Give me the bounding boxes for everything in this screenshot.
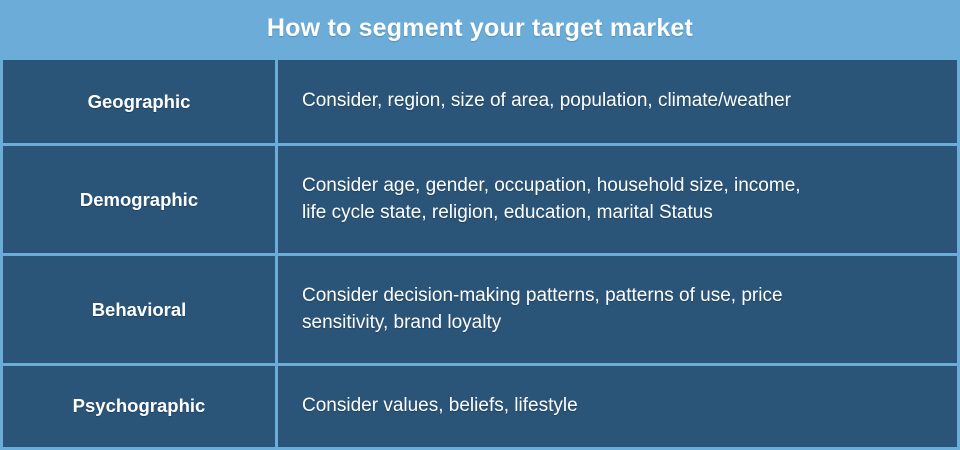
slide-container: How to segment your target market Geogra… — [0, 0, 960, 445]
content-line: sensitivity, brand loyalty — [302, 310, 943, 337]
segment-content-behavioral: Consider decision-making patterns, patte… — [277, 255, 959, 365]
segment-content-geographic: Consider, region, size of area, populati… — [277, 59, 959, 145]
content-line: Consider, region, size of area, populati… — [302, 88, 943, 115]
table-row: Psychographic Consider values, beliefs, … — [2, 365, 959, 447]
table-row: Behavioral Consider decision-making patt… — [2, 255, 959, 365]
segment-label-geographic: Geographic — [2, 59, 277, 145]
segment-label-psychographic: Psychographic — [2, 365, 277, 447]
content-line: Consider values, beliefs, lifestyle — [302, 393, 943, 420]
content-line: life cycle state, religion, education, m… — [302, 200, 943, 227]
segment-label-behavioral: Behavioral — [2, 255, 277, 365]
market-segmentation-table: Geographic Consider, region, size of are… — [0, 57, 960, 447]
content-line: Consider age, gender, occupation, househ… — [302, 173, 943, 200]
segment-content-psychographic: Consider values, beliefs, lifestyle — [277, 365, 959, 447]
content-line: Consider decision-making patterns, patte… — [302, 283, 943, 310]
segment-label-demographic: Demographic — [2, 145, 277, 255]
table-row: Geographic Consider, region, size of are… — [2, 59, 959, 145]
segment-content-demographic: Consider age, gender, occupation, househ… — [277, 145, 959, 255]
title-bar: How to segment your target market — [0, 0, 960, 57]
segment-table-wrapper: Geographic Consider, region, size of are… — [0, 57, 960, 450]
table-row: Demographic Consider age, gender, occupa… — [2, 145, 959, 255]
page-title: How to segment your target market — [267, 14, 693, 43]
